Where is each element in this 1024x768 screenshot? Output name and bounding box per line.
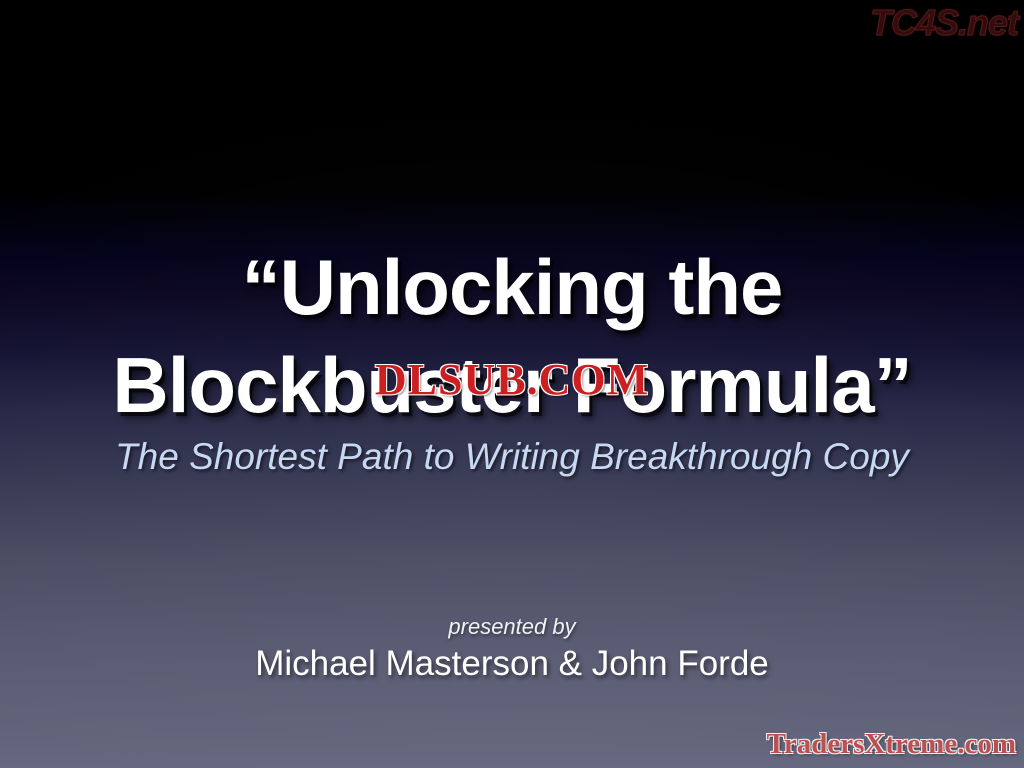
presenter-names: Michael Masterson & John Forde xyxy=(0,643,1024,685)
tradersxtreme-watermark: TradersXtreme.com xyxy=(767,728,1016,760)
tc4s-watermark: TC4S.net xyxy=(870,2,1018,44)
title-line-2: Blockbuster Formula” xyxy=(0,336,1024,434)
tradersxtreme-watermark-text: TradersXtreme.com xyxy=(767,728,1016,760)
presentation-slide: TC4S.net “Unlocking the Blockbuster Form… xyxy=(0,0,1024,768)
presented-by-label: presented by xyxy=(0,614,1024,640)
title-line-1: “Unlocking the xyxy=(0,238,1024,336)
slide-subtitle: The Shortest Path to Writing Breakthroug… xyxy=(0,434,1024,480)
slide-title: “Unlocking the Blockbuster Formula” xyxy=(0,238,1024,434)
